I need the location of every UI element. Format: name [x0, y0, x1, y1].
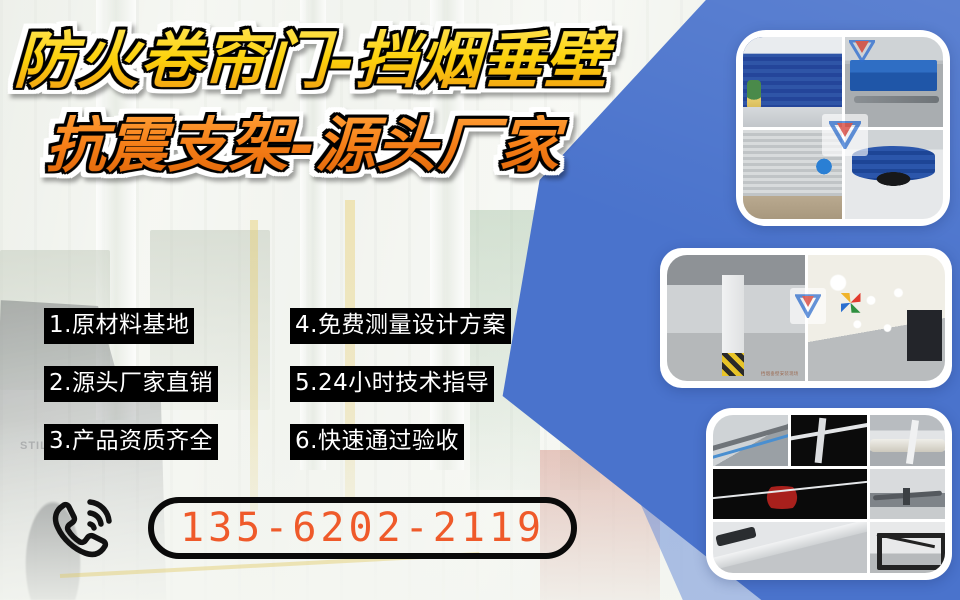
gallery-card-seismic-bracing[interactable]: [706, 408, 952, 580]
photo-duct-support-bracing: [713, 522, 867, 573]
gallery-card-smoke-barrier[interactable]: 挡烟垂壁安装现场: [660, 248, 952, 388]
photo-gray-rolling-shutter: [743, 130, 842, 220]
promo-poster: STILL 防火卷帘门-挡烟垂壁 抗震支架-源头厂家 1.原材料基地 4.免费测…: [0, 0, 960, 600]
headline-block: 防火卷帘门-挡烟垂壁 抗震支架-源头厂家: [14, 28, 704, 178]
v-watermark: [849, 40, 875, 62]
feature-label: 2.源头厂家直销: [44, 366, 218, 403]
feature-item-2: 2.源头厂家直销: [44, 355, 276, 413]
pinwheel-decoration: [841, 293, 861, 313]
photo-dark-duct-bracing: [791, 415, 866, 466]
photo-blue-shutter-coil: [845, 130, 944, 220]
gallery-grid: [743, 37, 943, 219]
photo-ceiling-fan-bracing: [870, 469, 945, 520]
phone-call-icon: [46, 492, 124, 564]
feature-label: 6.快速通过验收: [290, 424, 464, 461]
feature-label: 4.免费测量设计方案: [290, 308, 511, 345]
photo-ceiling-pipe-bracing: [713, 415, 788, 466]
phone-number-pill[interactable]: 135-6202-2119: [148, 497, 577, 559]
headline-primary: 防火卷帘门-挡烟垂壁: [13, 28, 705, 93]
photo-pipe-clamp-bracing: [870, 415, 945, 466]
gallery-grid: 挡烟垂壁安装现场: [667, 255, 945, 381]
gallery-grid: [713, 415, 945, 573]
feature-item-5: 5.24小时技术指导: [290, 355, 554, 413]
feature-label: 1.原材料基地: [44, 308, 194, 345]
feature-list: 1.原材料基地 4.免费测量设计方案 2.源头厂家直销 5.24小时技术指导 3…: [44, 297, 554, 471]
feature-item-1: 1.原材料基地: [44, 297, 276, 355]
feature-label: 5.24小时技术指导: [290, 366, 494, 403]
photo-red-fan-bracing: [713, 469, 867, 520]
contact-block[interactable]: 135-6202-2119: [46, 492, 577, 564]
feature-item-4: 4.免费测量设计方案: [290, 297, 554, 355]
phone-number-text: 135-6202-2119: [180, 508, 545, 548]
feature-item-3: 3.产品资质齐全: [44, 413, 276, 471]
gallery-card-fire-shutter[interactable]: [736, 30, 950, 226]
photo-ceiling-lights-interior: [808, 255, 946, 381]
feature-label: 3.产品资质齐全: [44, 424, 218, 461]
photo-blue-rolling-shutter-door: [743, 37, 842, 127]
headline-secondary: 抗震支架-源头厂家: [45, 115, 705, 178]
photo-parking-garage-interior: 挡烟垂壁安装现场: [667, 255, 805, 381]
photo-caption: 挡烟垂壁安装现场: [761, 371, 799, 377]
photo-steel-frame-bracing: [870, 522, 945, 573]
feature-item-6: 6.快速通过验收: [290, 413, 554, 471]
photo-shutter-roll-forming-machine: [845, 37, 944, 127]
